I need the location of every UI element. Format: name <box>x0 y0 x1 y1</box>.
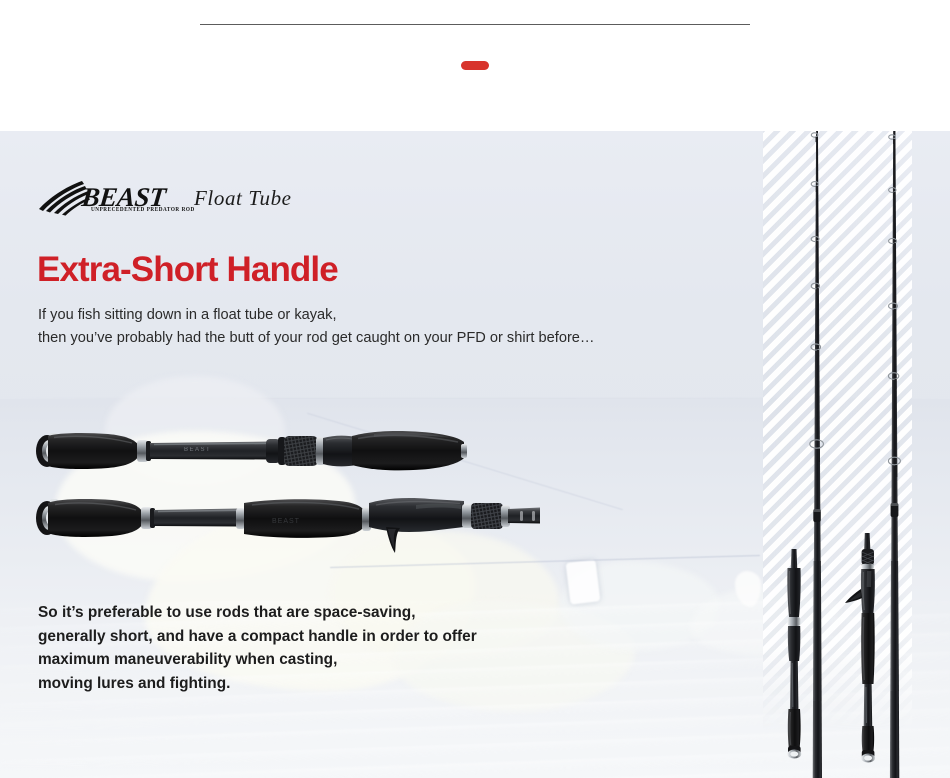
fish-finder-shape <box>566 559 601 604</box>
accent-dash-icon <box>461 61 489 70</box>
header-divider <box>200 24 750 25</box>
svg-text:BEAST: BEAST <box>272 518 300 525</box>
casting-rod-handle: BEAST <box>34 490 544 562</box>
beast-logo: BEAST UNPRECEDENTED PREDATOR ROD <box>38 178 180 216</box>
header-band <box>0 0 950 131</box>
spinning-rod-handle: BEAST <box>34 425 468 477</box>
page-title: Extra-Short Handle <box>37 250 338 290</box>
product-series-label: Float Tube <box>194 186 292 216</box>
closing-line-1: So it’s preferable to use rods that are … <box>38 601 477 625</box>
closing-line-3: maximum maneuverability when casting, <box>38 648 477 672</box>
brand-tagline: UNPRECEDENTED PREDATOR ROD <box>91 206 195 214</box>
closing-line-4: moving lures and fighting. <box>38 672 477 696</box>
product-banner-page: BEAST UNPRECEDENTED PREDATOR ROD Float T… <box>0 0 950 778</box>
closing-line-2: generally short, and have a compact hand… <box>38 625 477 649</box>
intro-line-1: If you fish sitting down in a float tube… <box>38 304 595 327</box>
vertical-spinning-handle <box>787 549 801 759</box>
vertical-rod-group <box>763 131 950 778</box>
svg-text:BEAST: BEAST <box>184 447 211 453</box>
vertical-casting-handle <box>845 533 875 763</box>
content-stage: BEAST UNPRECEDENTED PREDATOR ROD Float T… <box>0 131 950 778</box>
intro-line-2: then you’ve probably had the butt of you… <box>38 327 595 350</box>
intro-paragraph: If you fish sitting down in a float tube… <box>38 304 595 350</box>
closing-paragraph: So it’s preferable to use rods that are … <box>38 601 477 695</box>
brand-lockup: BEAST UNPRECEDENTED PREDATOR ROD Float T… <box>38 178 292 216</box>
